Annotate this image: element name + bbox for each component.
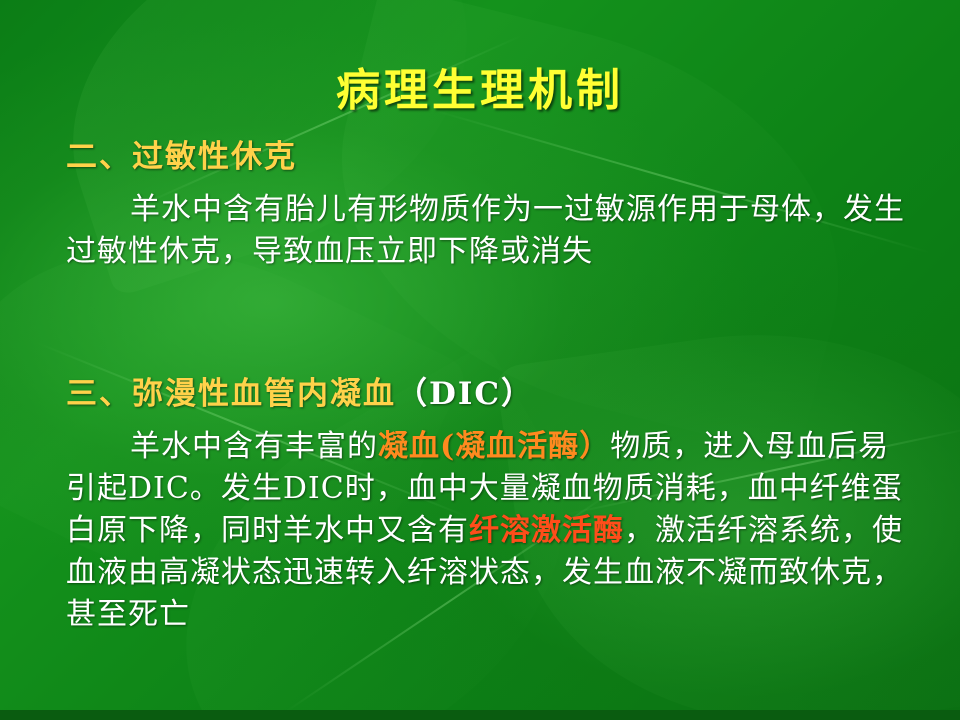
slide-content: 病理生理机制 二、过敏性休克 羊水中含有胎儿有形物质作为一过敏源作用于母体，发生… xyxy=(0,0,960,720)
section-heading-number: 三、 xyxy=(66,376,132,412)
section-body-paragraph: 羊水中含有丰富的凝血(凝血活酶）物质，进入母血后易引起DIC。发生DIC时，血中… xyxy=(66,426,916,636)
body-highlight-coagulase: 凝血(凝血活酶） xyxy=(378,429,610,464)
slide-title: 病理生理机制 xyxy=(0,54,960,118)
presentation-slide: 病理生理机制 二、过敏性休克 羊水中含有胎儿有形物质作为一过敏源作用于母体，发生… xyxy=(0,0,960,720)
body-text-part-1: 羊水中含有丰富的 xyxy=(130,429,378,464)
section-heading: 三、弥漫性血管内凝血（DIC） xyxy=(66,373,916,416)
section-heading-text: 弥漫性血管内凝血 xyxy=(132,376,396,412)
section-dic: 三、弥漫性血管内凝血（DIC） 羊水中含有丰富的凝血(凝血活酶）物质，进入母血后… xyxy=(66,373,916,636)
section-heading-text: 过敏性休克 xyxy=(132,139,297,175)
body-highlight-fibrinolytic-activator: 纤溶激活酶 xyxy=(469,513,624,548)
section-heading-number: 二、 xyxy=(66,139,132,175)
section-heading-suffix: （DIC） xyxy=(396,376,534,412)
section-heading: 二、过敏性休克 xyxy=(66,136,916,179)
section-body-paragraph: 羊水中含有胎儿有形物质作为一过敏源作用于母体，发生过敏性休克，导致血压立即下降或… xyxy=(66,189,916,273)
section-allergic-shock: 二、过敏性休克 羊水中含有胎儿有形物质作为一过敏源作用于母体，发生过敏性休克，导… xyxy=(66,136,916,273)
slide-bottom-bar xyxy=(0,710,960,720)
